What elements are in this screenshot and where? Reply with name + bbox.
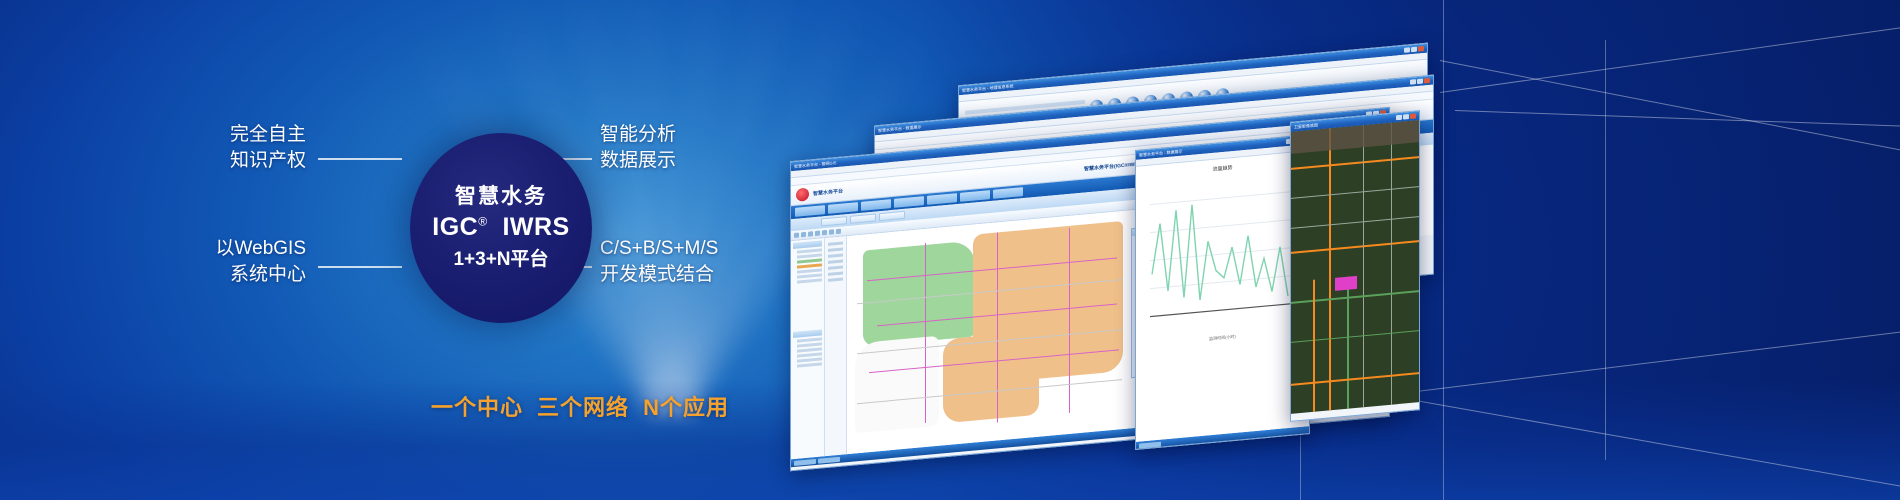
nav-item-inspection[interactable] — [927, 193, 957, 205]
application-window-stack: 智慧水务平台 - 地理信息系统 — [790, 30, 1610, 470]
layer-tree-panel[interactable] — [791, 238, 825, 459]
toolbar-icon-zoom-in[interactable] — [801, 232, 806, 237]
tagline-part1: 一个中心 — [431, 395, 523, 420]
feature-label-bottom-right-line1: C/S+B/S+M/S — [600, 236, 718, 262]
window-satellite[interactable]: 卫星影像底图 — [1290, 110, 1420, 422]
feature-label-bottom-left-line1: 以WebGIS — [160, 236, 306, 262]
window-chart[interactable]: 智慧水务平台 - 数据展示 流量趋势 监测时间(小时) — [1135, 134, 1310, 450]
sat-road-green — [1291, 330, 1420, 343]
company-logo-icon — [796, 188, 809, 202]
feature-label-top-left-line1: 完全自主 — [186, 122, 306, 148]
feature-label-top-left-line2: 知识产权 — [186, 148, 306, 174]
nav-item-pipe-query[interactable] — [861, 199, 891, 211]
sat-road-minor — [1391, 123, 1392, 405]
sat-road-minor — [1291, 216, 1420, 229]
map-tool-item[interactable] — [828, 241, 843, 245]
hero-banner: 完全自主 知识产权 以WebGIS 系统中心 智能分析 数据展示 C/S+B/S… — [0, 0, 1900, 500]
window-satellite-controls[interactable] — [1396, 113, 1416, 120]
line-chart-svg — [1142, 171, 1302, 336]
toolbar-icon-print[interactable] — [829, 229, 834, 234]
sat-road-major — [1329, 128, 1331, 410]
attribute-row — [797, 362, 822, 367]
ellipse-cn-title: 智慧水务 — [455, 185, 547, 208]
nav-item-home[interactable] — [795, 205, 825, 217]
sat-road-green — [1347, 277, 1349, 409]
center-ellipse-badge: 智慧水务 IGC® IWRS 1+3+N平台 — [410, 133, 592, 323]
satellite-map-canvas[interactable] — [1291, 120, 1420, 414]
tagline: 一个中心三个网络N个应用 — [360, 390, 800, 422]
sat-road-major — [1291, 156, 1420, 170]
map-tool-item[interactable] — [828, 247, 843, 251]
map-pipe-line — [1069, 228, 1070, 413]
feature-label-top-right: 智能分析 数据展示 — [600, 122, 676, 174]
ellipse-platform-text: 1+3+N平台 — [453, 244, 548, 271]
feature-label-top-left: 完全自主 知识产权 — [186, 122, 306, 174]
toolbar-icon-pan[interactable] — [794, 232, 799, 237]
sat-highlight-area[interactable] — [1335, 276, 1357, 291]
map-tool-item[interactable] — [828, 271, 843, 275]
feature-label-bottom-left: 以WebGIS 系统中心 — [160, 236, 306, 288]
concept-diagram: 完全自主 知识产权 以WebGIS 系统中心 智能分析 数据展示 C/S+B/S… — [0, 0, 860, 500]
map-tool-item[interactable] — [828, 277, 843, 281]
product-igc: IGC — [432, 213, 478, 241]
sat-road-minor — [1363, 125, 1364, 407]
map-tool-item[interactable] — [828, 259, 843, 263]
nav-item-maintenance[interactable] — [960, 190, 990, 202]
sat-road-major — [1291, 240, 1420, 254]
feature-label-bottom-left-line2: 系统中心 — [160, 262, 306, 288]
toolbar-icon-zoom-out[interactable] — [808, 231, 813, 236]
subnav-item-pressure-points[interactable] — [850, 213, 876, 223]
connector-bottom-left — [318, 266, 402, 268]
nav-item-basic-info[interactable] — [828, 202, 858, 214]
nav-item-layers[interactable] — [894, 196, 924, 208]
map-tools-panel[interactable] — [825, 236, 847, 456]
statusbar-item — [818, 456, 840, 463]
sat-road-major — [1291, 372, 1420, 386]
map-tool-item[interactable] — [828, 265, 843, 269]
window-middle-controls[interactable] — [1410, 78, 1430, 85]
feature-label-bottom-right: C/S+B/S+M/S 开发模式结合 — [600, 236, 718, 288]
tagline-part3: N个应用 — [643, 395, 729, 420]
statusbar-item — [794, 458, 816, 465]
toolbar-icon-measure[interactable] — [822, 230, 827, 235]
map-tool-item[interactable] — [828, 253, 843, 257]
subnav-item-districts[interactable] — [821, 216, 847, 226]
ellipse-product-name: IGC® IWRS — [432, 214, 569, 240]
sat-road-minor — [1291, 186, 1420, 199]
feature-label-bottom-right-line2: 开发模式结合 — [600, 262, 718, 288]
window-back-controls[interactable] — [1404, 46, 1424, 53]
sat-road-green — [1291, 290, 1420, 304]
toolbar-icon-identify[interactable] — [836, 229, 841, 234]
subnav-item-analysis[interactable] — [879, 211, 905, 221]
feature-label-top-right-line1: 智能分析 — [600, 122, 676, 148]
toolbar-icon-select[interactable] — [815, 231, 820, 236]
connector-top-left — [318, 158, 402, 160]
feature-label-top-right-line2: 数据展示 — [600, 148, 676, 174]
nav-item-statistics[interactable] — [993, 187, 1023, 199]
window-front-brand: 智慧水务平台 — [813, 187, 843, 197]
registered-mark-icon: ® — [478, 215, 487, 229]
sat-road-major — [1313, 280, 1315, 412]
layer-tree-item[interactable] — [797, 278, 822, 283]
map-pipe-line — [997, 232, 998, 422]
tagline-part2: 三个网络 — [537, 395, 629, 420]
product-iwrs: IWRS — [502, 213, 569, 241]
